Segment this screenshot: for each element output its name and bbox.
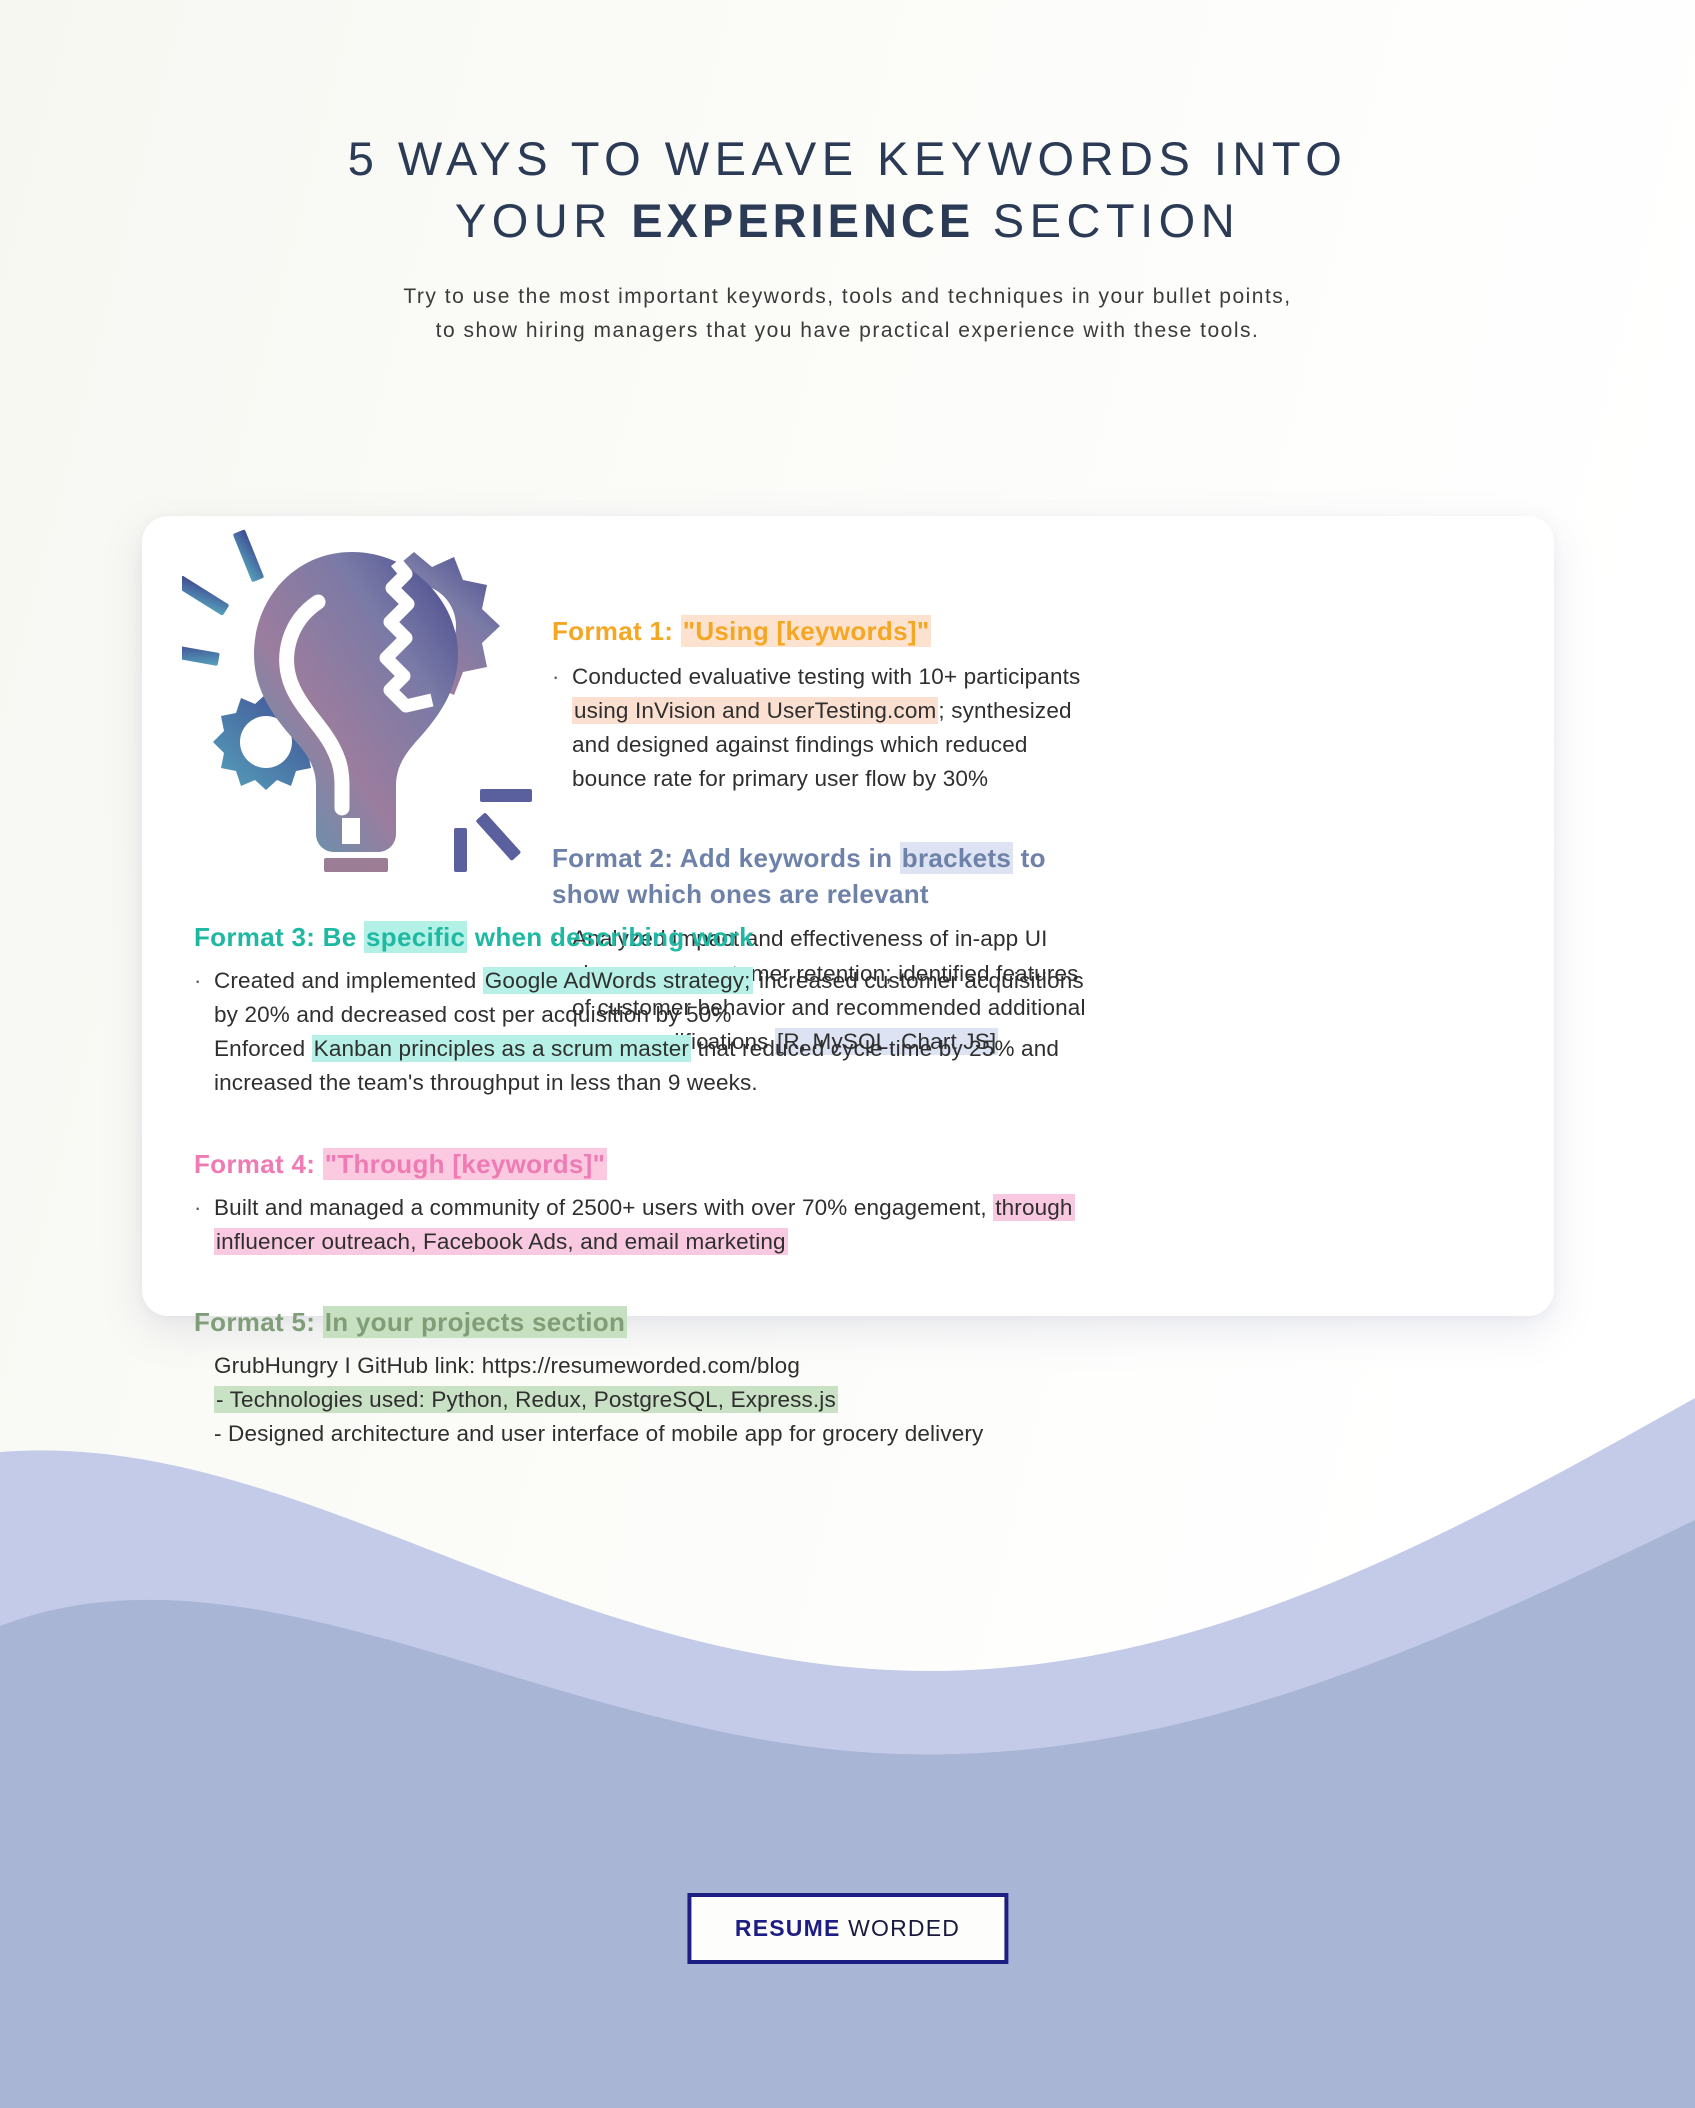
bullet-marker-icon: · xyxy=(194,964,214,1101)
resume-worded-logo[interactable]: RESUME WORDED xyxy=(687,1893,1008,1964)
format-2-heading-line-2: show which ones are relevant xyxy=(552,879,929,909)
format-4-bullet-text: Built and managed a community of 2500+ u… xyxy=(214,1191,1514,1259)
format-5-heading: Format 5: In your projects section xyxy=(194,1305,1514,1341)
format-1-line-1: Conducted evaluative testing with 10+ pa… xyxy=(572,664,1080,689)
format-2-heading-highlight: brackets xyxy=(900,842,1013,874)
format-3-line-1-suffix: increased customer acquisitions xyxy=(753,968,1084,993)
lightbulb-gears-icon xyxy=(182,518,542,878)
format-3-line-3-prefix: Enforced xyxy=(214,1036,312,1061)
format-3-line-4: increased the team's throughput in less … xyxy=(214,1070,758,1095)
format-4-block: Format 4: "Through [keywords]" · Built a… xyxy=(194,1147,1514,1259)
format-3-line-1-prefix: Created and implemented xyxy=(214,968,483,993)
format-1-line-3: and designed against findings which redu… xyxy=(572,732,1028,757)
format-3-bullet: · Created and implemented Google AdWords… xyxy=(194,964,1514,1101)
format-5-heading-label: Format 5: xyxy=(194,1307,323,1337)
format-3-line-2: by 20% and decreased cost per acquisitio… xyxy=(214,1002,732,1027)
formats-lower-column: Format 3: Be specific when describing wo… xyxy=(194,920,1514,1451)
format-1-line-2-rest: ; synthesized xyxy=(938,698,1071,723)
format-3-line-3-highlight: Kanban principles as a scrum master xyxy=(312,1035,691,1062)
format-5-line-1: GrubHungry I GitHub link: https://resume… xyxy=(214,1353,800,1378)
logo-bold-text: RESUME xyxy=(735,1915,841,1941)
format-4-heading-highlight: "Through [keywords]" xyxy=(323,1148,608,1180)
bullet-marker-icon: · xyxy=(194,1191,214,1259)
format-3-line-3-suffix: that reduced cycle time by 25% and xyxy=(691,1036,1059,1061)
format-5-block: Format 5: In your projects section GrubH… xyxy=(194,1305,1514,1451)
page-header: 5 WAYS TO WEAVE KEYWORDS INTO YOUR EXPER… xyxy=(0,0,1695,348)
format-4-line-2-highlight: influencer outreach, Facebook Ads, and e… xyxy=(214,1228,788,1255)
format-4-line-1-highlight: through xyxy=(993,1194,1074,1221)
format-3-heading-highlight: specific xyxy=(364,921,467,953)
page-title-line-2: YOUR EXPERIENCE SECTION xyxy=(0,190,1695,252)
content-card: Format 1: "Using [keywords]" · Conducted… xyxy=(142,516,1554,1316)
format-1-line-2-highlight: using InVision and UserTesting.com xyxy=(572,697,938,724)
format-5-body: GrubHungry I GitHub link: https://resume… xyxy=(194,1349,1514,1452)
page-subtitle: Try to use the most important keywords, … xyxy=(0,280,1695,348)
bullet-marker-icon: · xyxy=(552,660,572,797)
page-subtitle-line-1: Try to use the most important keywords, … xyxy=(0,280,1695,314)
format-5-line-2-highlight: - Technologies used: Python, Redux, Post… xyxy=(214,1386,838,1413)
format-4-heading: Format 4: "Through [keywords]" xyxy=(194,1147,1514,1183)
format-3-line-1-highlight: Google AdWords strategy; xyxy=(483,967,753,994)
format-2-heading-suffix: to xyxy=(1013,843,1046,873)
format-3-bullet-text: Created and implemented Google AdWords s… xyxy=(214,964,1514,1101)
page-title-prefix: YOUR xyxy=(455,194,631,247)
page-subtitle-line-2: to show hiring managers that you have pr… xyxy=(0,314,1695,348)
format-3-heading: Format 3: Be specific when describing wo… xyxy=(194,920,1514,956)
format-5-line-3: - Designed architecture and user interfa… xyxy=(214,1421,983,1446)
format-5-heading-highlight: In your projects section xyxy=(323,1306,628,1338)
format-1-heading-label: Format 1: xyxy=(552,616,681,646)
format-1-block: Format 1: "Using [keywords]" · Conducted… xyxy=(552,614,1512,797)
format-3-block: Format 3: Be specific when describing wo… xyxy=(194,920,1514,1101)
format-4-bullet: · Built and managed a community of 2500+… xyxy=(194,1191,1514,1259)
format-2-heading: Format 2: Add keywords in brackets to sh… xyxy=(552,841,1512,913)
page-title-line-1: 5 WAYS TO WEAVE KEYWORDS INTO xyxy=(0,128,1695,190)
page-title-suffix: SECTION xyxy=(974,194,1240,247)
logo-regular-text: WORDED xyxy=(841,1915,961,1941)
format-3-heading-suffix: when describing work xyxy=(467,922,754,952)
format-1-bullet: · Conducted evaluative testing with 10+ … xyxy=(552,660,1512,797)
format-1-bullet-text: Conducted evaluative testing with 10+ pa… xyxy=(572,660,1512,797)
format-4-heading-label: Format 4: xyxy=(194,1149,323,1179)
format-4-line-1-prefix: Built and managed a community of 2500+ u… xyxy=(214,1195,993,1220)
format-1-heading-highlight: "Using [keywords]" xyxy=(681,615,932,647)
format-2-heading-prefix: Format 2: Add keywords in xyxy=(552,843,900,873)
page-title-emphasis: EXPERIENCE xyxy=(631,194,974,247)
format-1-line-4: bounce rate for primary user flow by 30% xyxy=(572,766,988,791)
format-1-heading: Format 1: "Using [keywords]" xyxy=(552,614,1512,650)
format-3-heading-prefix: Format 3: Be xyxy=(194,922,364,952)
